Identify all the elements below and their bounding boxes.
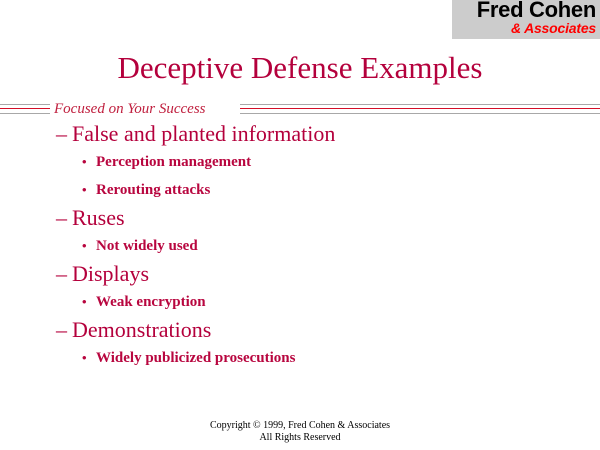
dot-bullet-icon: •	[82, 176, 87, 204]
dash-bullet-icon: –	[56, 316, 67, 344]
dot-bullet-icon: •	[82, 288, 87, 316]
bullet-text: Not widely used	[96, 232, 198, 260]
bullet-row: –Ruses	[0, 204, 600, 232]
bullet-row: •Perception management	[0, 148, 600, 176]
divider-rules-left	[0, 99, 50, 121]
bullet-text: Ruses	[72, 204, 125, 232]
dot-bullet-icon: •	[82, 148, 87, 176]
slide-footer: Copyright © 1999, Fred Cohen & Associate…	[0, 420, 600, 444]
divider-rule-gray-bottom	[0, 113, 50, 114]
company-logo: Fred Cohen & Associates	[452, 0, 600, 39]
bullet-row: •Widely publicized prosecutions	[0, 344, 600, 372]
divider-rule-gray-top	[0, 104, 50, 105]
dash-bullet-icon: –	[56, 120, 67, 148]
slide-title: Deceptive Defense Examples	[0, 50, 600, 86]
divider-rules-right	[240, 99, 600, 121]
divider-rule-gray-bottom	[240, 113, 600, 114]
footer-copyright-line: Copyright © 1999, Fred Cohen & Associate…	[0, 420, 600, 432]
bullet-list: –False and planted information•Perceptio…	[0, 120, 600, 372]
bullet-text: Demonstrations	[72, 316, 211, 344]
bullet-text: Weak encryption	[96, 288, 206, 316]
bullet-text: Perception management	[96, 148, 251, 176]
slide-tagline: Focused on Your Success	[54, 98, 206, 120]
dot-bullet-icon: •	[82, 344, 87, 372]
dash-bullet-icon: –	[56, 260, 67, 288]
logo-company-name: Fred Cohen	[452, 0, 600, 22]
divider-rule-gray-top	[240, 104, 600, 105]
bullet-text: False and planted information	[72, 120, 335, 148]
divider-rule-red	[0, 108, 50, 109]
bullet-text: Displays	[72, 260, 149, 288]
bullet-text: Widely publicized prosecutions	[96, 344, 295, 372]
bullet-row: –Displays	[0, 260, 600, 288]
footer-rights-line: All Rights Reserved	[0, 432, 600, 444]
title-divider: Focused on Your Success	[0, 99, 600, 121]
bullet-row: •Weak encryption	[0, 288, 600, 316]
bullet-row: –False and planted information	[0, 120, 600, 148]
dot-bullet-icon: •	[82, 232, 87, 260]
dash-bullet-icon: –	[56, 204, 67, 232]
slide-canvas: Fred Cohen & Associates Deceptive Defens…	[0, 0, 600, 450]
logo-company-subtitle: & Associates	[452, 20, 600, 36]
bullet-row: •Rerouting attacks	[0, 176, 600, 204]
divider-rule-red	[240, 108, 600, 109]
bullet-row: –Demonstrations	[0, 316, 600, 344]
bullet-row: •Not widely used	[0, 232, 600, 260]
bullet-text: Rerouting attacks	[96, 176, 210, 204]
